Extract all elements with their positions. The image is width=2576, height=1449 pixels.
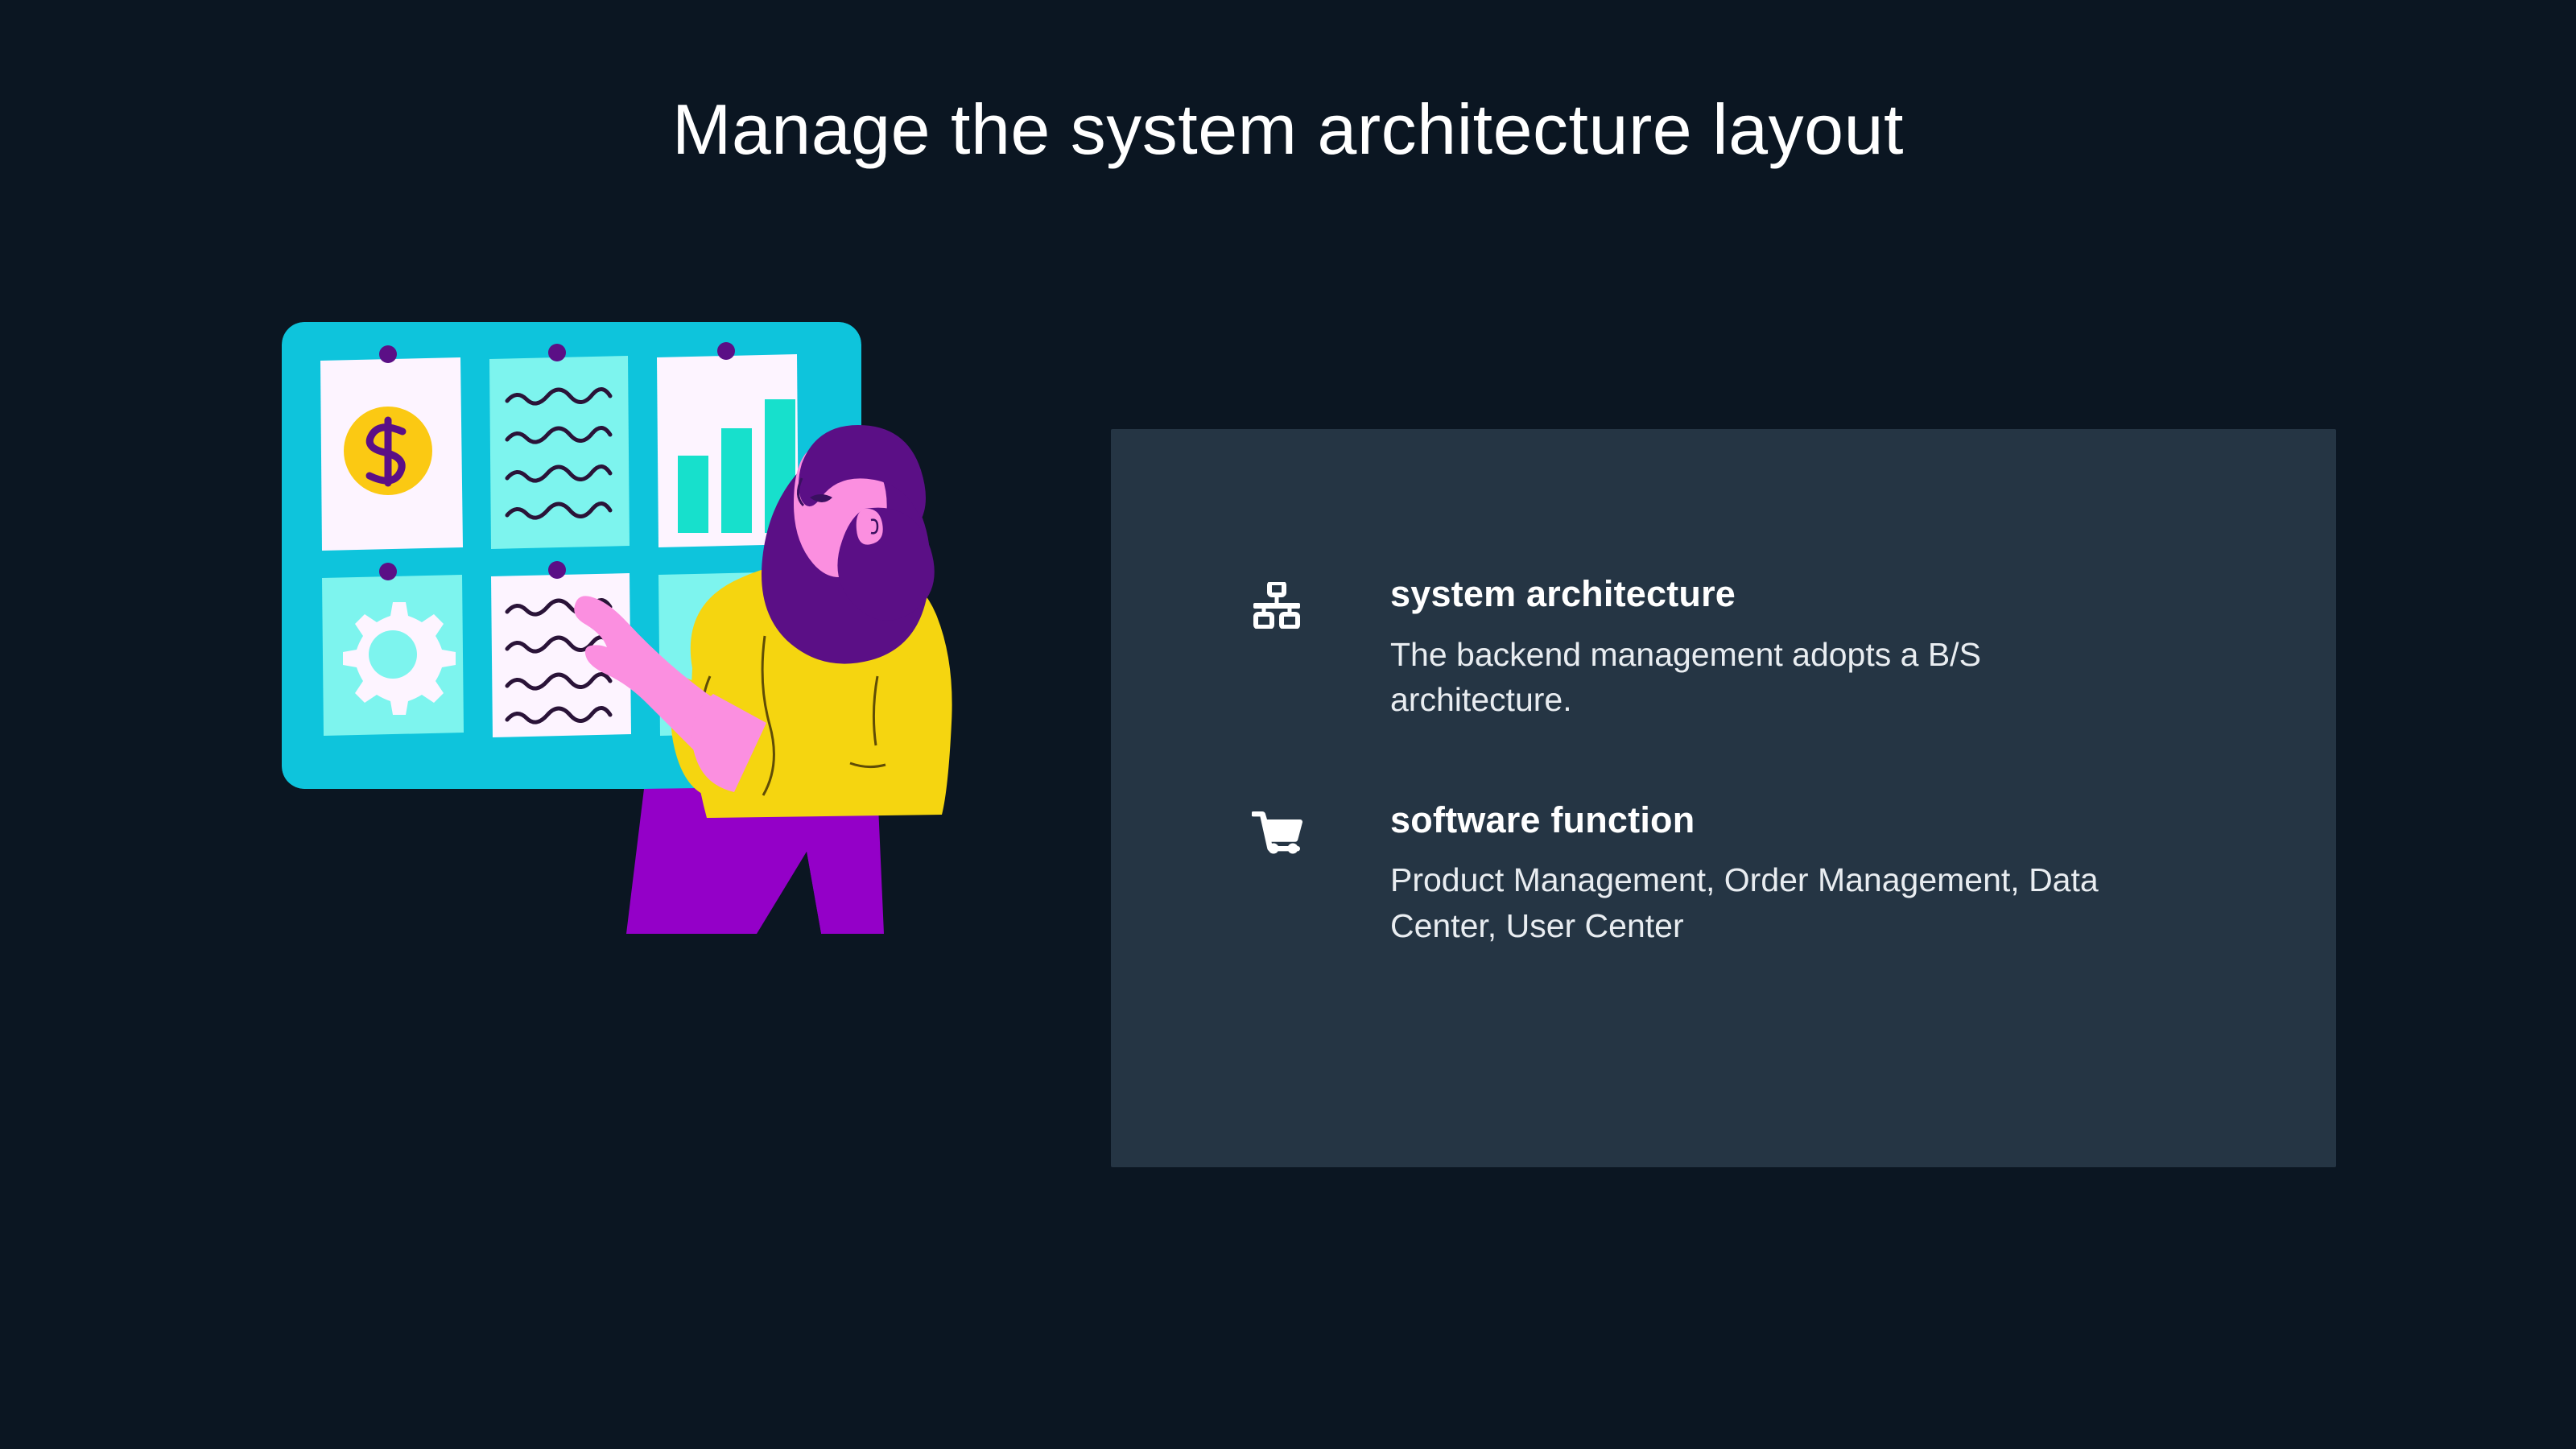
- gear-note: [322, 575, 464, 736]
- slide-root: Manage the system architecture layout: [0, 0, 2576, 1449]
- feature-item-system-architecture: system architecture The backend manageme…: [1252, 574, 2218, 723]
- pin: [379, 345, 397, 363]
- gear-icon: [343, 602, 456, 715]
- text-note-top: [489, 356, 630, 549]
- feature-title: system architecture: [1390, 574, 2218, 614]
- feature-text: software function Product Management, Or…: [1340, 800, 2218, 949]
- page-title: Manage the system architecture layout: [0, 89, 2576, 170]
- pin: [717, 342, 735, 360]
- pin: [548, 344, 566, 361]
- feature-text: system architecture The backend manageme…: [1340, 574, 2218, 723]
- shopping-cart-icon: [1252, 800, 1340, 855]
- coin-note: [320, 357, 463, 551]
- pin: [548, 561, 566, 579]
- feature-description: Product Management, Order Management, Da…: [1390, 857, 2139, 948]
- content-card: system architecture The backend manageme…: [1111, 429, 2336, 1167]
- feature-list: system architecture The backend manageme…: [1252, 574, 2218, 948]
- feature-description: The backend management adopts a B/S arch…: [1390, 632, 2139, 723]
- sitemap-icon: [1252, 574, 1340, 629]
- feature-item-software-function: software function Product Management, Or…: [1252, 800, 2218, 949]
- feature-title: software function: [1390, 800, 2218, 840]
- illustration-woman-presenting-at-board: [266, 298, 974, 998]
- pin: [379, 563, 397, 580]
